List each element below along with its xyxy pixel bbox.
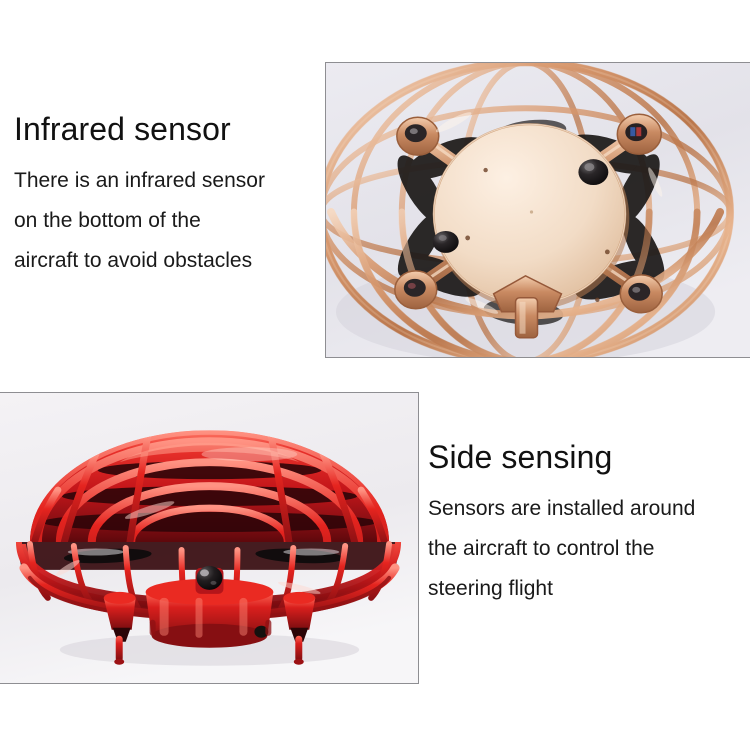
sensor-dome: [196, 566, 224, 594]
feature-heading-side-sensing: Side sensing: [428, 440, 740, 475]
feature-body-line: on the bottom of the: [14, 201, 314, 241]
feature-body-side-sensing: Sensors are installed around the aircraf…: [428, 489, 740, 609]
photo-red-drone-side-view: [0, 392, 419, 684]
feature-text-side-sensing: Side sensing Sensors are installed aroun…: [428, 440, 740, 609]
feature-body-line: the aircraft to control the: [428, 529, 740, 569]
feature-body-line: Sensors are installed around: [428, 489, 740, 529]
infographic-page: Infrared sensor There is an infrared sen…: [0, 0, 750, 750]
sensor-dome: [578, 159, 608, 185]
feature-body-line: There is an infrared sensor: [14, 161, 314, 201]
feature-body-line: aircraft to avoid obstacles: [14, 241, 314, 281]
feature-heading-infrared-sensor: Infrared sensor: [14, 112, 314, 147]
feature-text-infrared-sensor: Infrared sensor There is an infrared sen…: [14, 112, 314, 281]
sensor-dome: [433, 231, 459, 253]
feature-body-line: steering flight: [428, 569, 740, 609]
feature-body-infrared-sensor: There is an infrared sensor on the botto…: [14, 161, 314, 281]
red-drone-illustration: [0, 393, 418, 683]
photo-gold-drone-bottom-view: [325, 62, 750, 358]
gold-drone-illustration: [326, 63, 750, 357]
